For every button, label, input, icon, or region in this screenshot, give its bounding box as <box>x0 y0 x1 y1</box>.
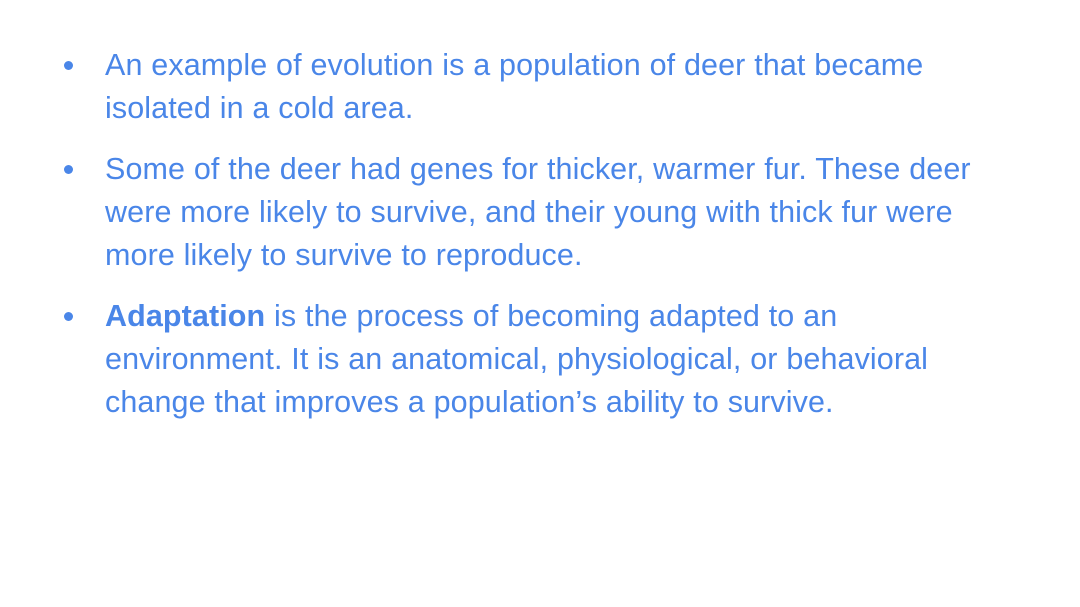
list-item[interactable]: Some of the deer had genes for thicker, … <box>56 148 1016 277</box>
bullet-dot-icon <box>64 61 73 70</box>
list-item-text: Some of the deer had genes for thicker, … <box>105 148 1016 277</box>
list-item-text: An example of evolution is a population … <box>105 44 1016 130</box>
list-item-lead-term: Adaptation <box>105 299 265 333</box>
bullet-list: An example of evolution is a population … <box>56 44 1016 424</box>
slide-canvas: An example of evolution is a population … <box>0 0 1080 607</box>
list-item[interactable]: Adaptation is the process of becoming ad… <box>56 295 1016 424</box>
bullet-dot-icon <box>64 165 73 174</box>
list-item-body: An example of evolution is a population … <box>105 48 923 125</box>
bullet-dot-icon <box>64 312 73 321</box>
list-item-body: Some of the deer had genes for thicker, … <box>105 152 971 272</box>
list-item-text: Adaptation is the process of becoming ad… <box>105 295 1016 424</box>
list-item[interactable]: An example of evolution is a population … <box>56 44 1016 130</box>
